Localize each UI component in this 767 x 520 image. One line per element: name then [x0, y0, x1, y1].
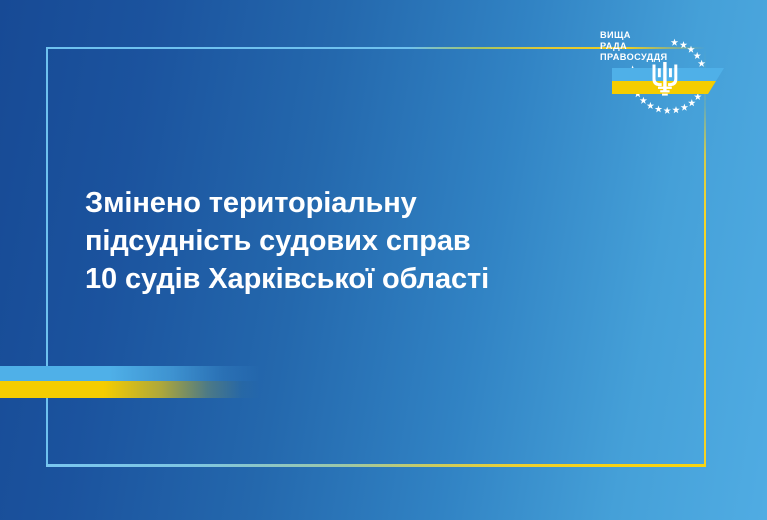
frame-bottom-line: [46, 464, 706, 467]
ukraine-flag-banner-icon: [612, 68, 724, 94]
vysha-rada-pravosuddya-logo: ВИЩА РАДА ПРАВОСУДДЯ: [592, 24, 728, 144]
logo-text-line-2: РАДА: [600, 41, 627, 51]
logo-text: ВИЩА РАДА ПРАВОСУДДЯ: [600, 30, 668, 62]
flag-ribbon-yellow-stripe: [0, 381, 260, 398]
news-banner: Змінено територіальну підсудність судови…: [0, 0, 767, 520]
logo-text-line-1: ВИЩА: [600, 30, 631, 40]
frame-left-line: [46, 47, 48, 466]
logo-text-line-3: ПРАВОСУДДЯ: [600, 52, 668, 62]
page-title: Змінено територіальну підсудність судови…: [85, 184, 555, 298]
flag-ribbon-blue-stripe: [0, 366, 260, 381]
